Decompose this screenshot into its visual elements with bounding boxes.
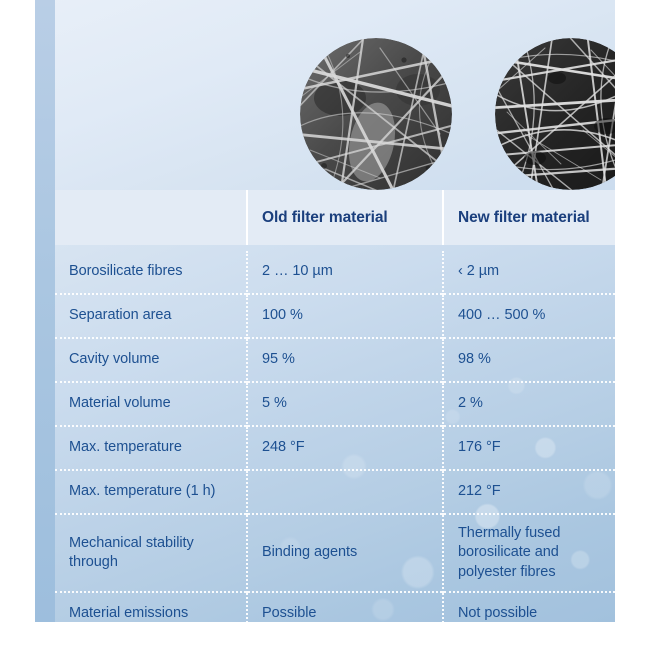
screenshot-root: Old filter material New filter material … [0, 0, 650, 650]
row-old-label: 2 … 10 µm [248, 262, 442, 281]
row-old-value: Binding agents [247, 514, 443, 592]
row-old-label: 5 % [248, 394, 442, 413]
row-old-value: 5 % [247, 382, 443, 426]
row-property-label: Material emissions [55, 604, 246, 622]
row-old-label: Possible [248, 604, 442, 622]
row-old-label: 95 % [248, 350, 442, 369]
comparison-table: Old filter material New filter material … [55, 190, 615, 622]
header-old-label: Old filter material [248, 209, 442, 227]
new-filter-micrograph [495, 38, 615, 190]
row-old-value: 2 … 10 µm [247, 251, 443, 294]
row-property: Material volume [55, 382, 247, 426]
row-property: Mechanical stability through [55, 514, 247, 592]
row-new-value: 176 °F [443, 426, 615, 470]
old-filter-micrograph-icon [300, 38, 452, 190]
row-old-value: 248 °F [247, 426, 443, 470]
micrograph-area [55, 0, 615, 190]
table-row: Cavity volume 95 % 98 % [55, 338, 615, 382]
row-property-label: Mechanical stability through [55, 534, 246, 573]
row-new-value: 98 % [443, 338, 615, 382]
row-property: Separation area [55, 294, 247, 338]
row-property: Borosilicate fibres [55, 251, 247, 294]
row-new-label: 2 % [444, 394, 615, 413]
row-new-value: Not possible [443, 592, 615, 622]
row-property-label: Material volume [55, 394, 246, 413]
header-cell-old: Old filter material [247, 190, 443, 245]
header-cell-new: New filter material [443, 190, 615, 245]
row-new-label: 98 % [444, 350, 615, 369]
new-filter-micrograph-icon [495, 38, 615, 190]
table-row: Borosilicate fibres 2 … 10 µm ‹ 2 µm [55, 251, 615, 294]
row-new-label: Thermally fused borosilicate and polyest… [444, 524, 615, 582]
row-old-value [247, 470, 443, 514]
row-new-value: 2 % [443, 382, 615, 426]
row-new-label: 400 … 500 % [444, 306, 615, 325]
row-property-label: Separation area [55, 306, 246, 325]
row-property: Max. temperature (1 h) [55, 470, 247, 514]
row-old-value: 95 % [247, 338, 443, 382]
row-old-label: 248 °F [248, 438, 442, 457]
row-property: Cavity volume [55, 338, 247, 382]
row-new-value: 400 … 500 % [443, 294, 615, 338]
row-new-value: 212 °F [443, 470, 615, 514]
row-old-label: Binding agents [248, 543, 442, 562]
old-filter-micrograph [300, 38, 452, 190]
table-row: Separation area 100 % 400 … 500 % [55, 294, 615, 338]
row-property-label: Borosilicate fibres [55, 262, 246, 281]
row-property-label: Max. temperature (1 h) [55, 482, 246, 501]
table-row: Max. temperature (1 h) 212 °F [55, 470, 615, 514]
row-new-label: 176 °F [444, 438, 615, 457]
comparison-panel: Old filter material New filter material … [35, 0, 615, 622]
row-old-value: 100 % [247, 294, 443, 338]
row-property-label: Max. temperature [55, 438, 246, 457]
row-old-label: 100 % [248, 306, 442, 325]
row-new-label: 212 °F [444, 482, 615, 501]
header-new-label: New filter material [444, 209, 615, 227]
row-new-label: Not possible [444, 604, 615, 622]
table-row: Material emissions Possible Not possible [55, 592, 615, 622]
row-property-label: Cavity volume [55, 350, 246, 369]
table-header-row: Old filter material New filter material [55, 190, 615, 245]
row-new-value: ‹ 2 µm [443, 251, 615, 294]
left-accent-band [35, 0, 55, 622]
table-row: Material volume 5 % 2 % [55, 382, 615, 426]
table-row: Mechanical stability through Binding age… [55, 514, 615, 592]
table-row: Max. temperature 248 °F 176 °F [55, 426, 615, 470]
header-cell-property [55, 190, 247, 245]
row-property: Max. temperature [55, 426, 247, 470]
row-property: Material emissions [55, 592, 247, 622]
row-new-label: ‹ 2 µm [444, 262, 615, 281]
row-new-value: Thermally fused borosilicate and polyest… [443, 514, 615, 592]
row-old-value: Possible [247, 592, 443, 622]
